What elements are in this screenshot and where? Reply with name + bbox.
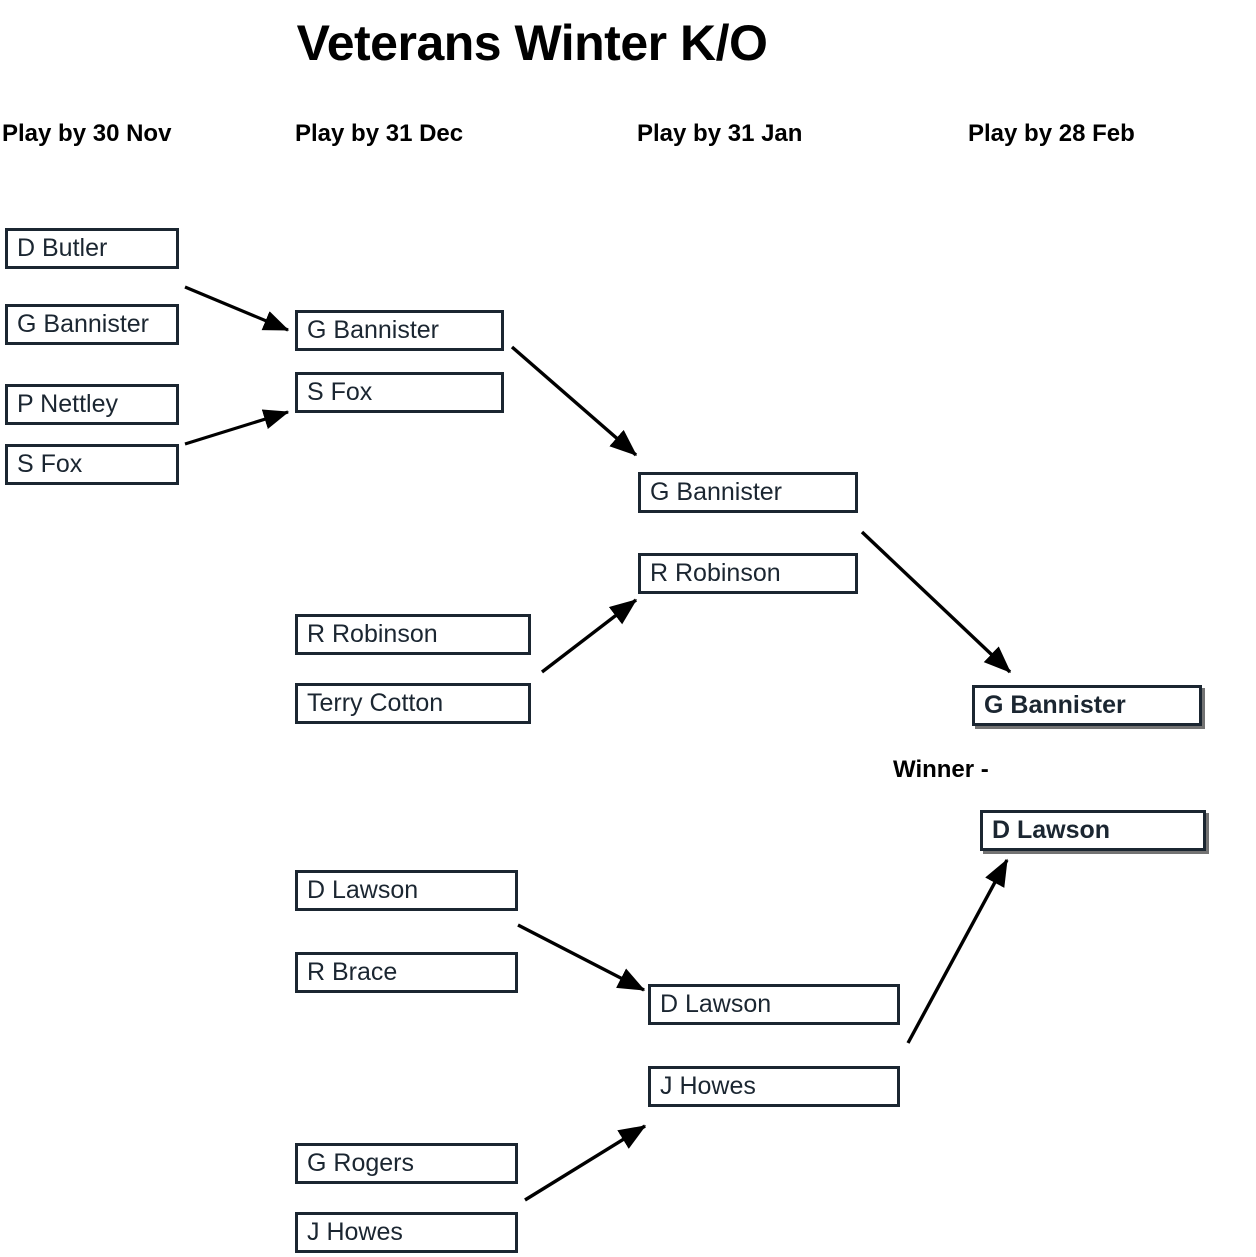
bracket-entry[interactable]: D Lawson [648,984,900,1025]
final-entry-champion[interactable]: G Bannister [972,685,1202,726]
bracket-diagram: Veterans Winter K/O Play by 30 Nov Play … [0,0,1256,1257]
bracket-entry[interactable]: S Fox [5,444,179,485]
bracket-entry[interactable]: R Brace [295,952,518,993]
bracket-entry[interactable]: S Fox [295,372,504,413]
column-header-round3: Play by 31 Jan [637,120,802,148]
column-header-round2: Play by 31 Dec [295,120,463,148]
bracket-entry[interactable]: R Robinson [638,553,858,594]
winner-label: Winner - [893,756,989,784]
bracket-entry[interactable]: G Bannister [295,310,504,351]
column-header-round1: Play by 30 Nov [2,120,171,148]
bracket-entry[interactable]: G Bannister [5,304,179,345]
connector-arrows [0,0,1256,1257]
bracket-entry[interactable]: J Howes [648,1066,900,1107]
bracket-entry[interactable]: J Howes [295,1212,518,1253]
final-entry-runner-up[interactable]: D Lawson [980,810,1206,851]
bracket-entry[interactable]: P Nettley [5,384,179,425]
bracket-entry[interactable]: G Bannister [638,472,858,513]
bracket-entry[interactable]: D Butler [5,228,179,269]
bracket-entry[interactable]: G Rogers [295,1143,518,1184]
bracket-entry[interactable]: R Robinson [295,614,531,655]
page-title: Veterans Winter K/O [0,14,1064,72]
bracket-entry[interactable]: Terry Cotton [295,683,531,724]
column-header-final: Play by 28 Feb [968,120,1135,148]
bracket-entry[interactable]: D Lawson [295,870,518,911]
